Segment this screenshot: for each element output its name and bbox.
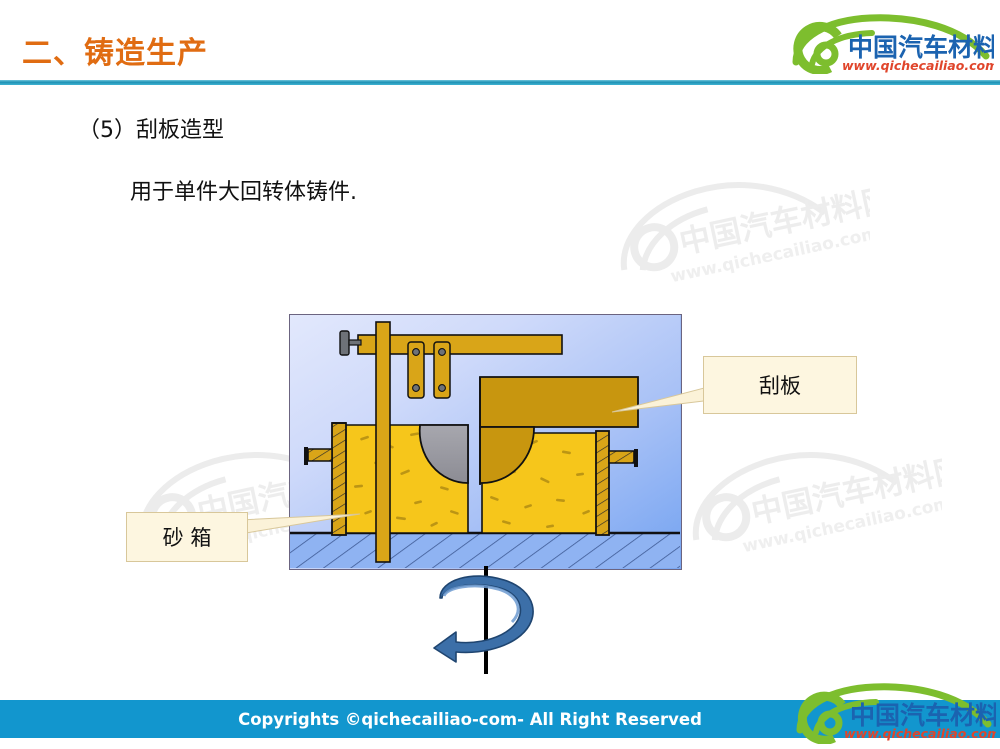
footer-logo-url: www.qichecailiao.com	[844, 726, 996, 741]
watermark-url: www.qichecailiao.com	[741, 493, 942, 557]
watermark-top-right: 中国汽车材料网 www.qichecailiao.com	[600, 168, 870, 288]
watermark-url: www.qichecailiao.com	[669, 223, 870, 287]
slide-root: 中国汽车材料网 www.qichecailiao.com 中国汽车材料网 www…	[0, 0, 1000, 749]
rotation-arrow	[420, 566, 550, 676]
header-logo: 中国汽车材料网 www.qichecailiao.com	[786, 12, 994, 74]
watermark-cn-name: 中国汽车材料网	[676, 181, 870, 261]
sweep-molding-figure	[289, 314, 682, 570]
callout-sandbox: 砂 箱	[126, 512, 248, 562]
watermark-mid-right: 中国汽车材料网 www.qichecailiao.com	[672, 438, 942, 558]
watermark-cn-name: 中国汽车材料网	[748, 451, 942, 531]
header-logo-url: www.qichecailiao.com	[842, 58, 994, 73]
page-title: 二、铸造生产	[22, 28, 208, 72]
subheading: （5）刮板造型	[78, 112, 224, 144]
header-divider	[0, 80, 1000, 85]
callout-scraper: 刮板	[703, 356, 857, 414]
description-text: 用于单件大回转体铸件.	[130, 174, 357, 206]
footer-logo: 中国汽车材料网 www.qichecailiao.com	[790, 682, 996, 744]
